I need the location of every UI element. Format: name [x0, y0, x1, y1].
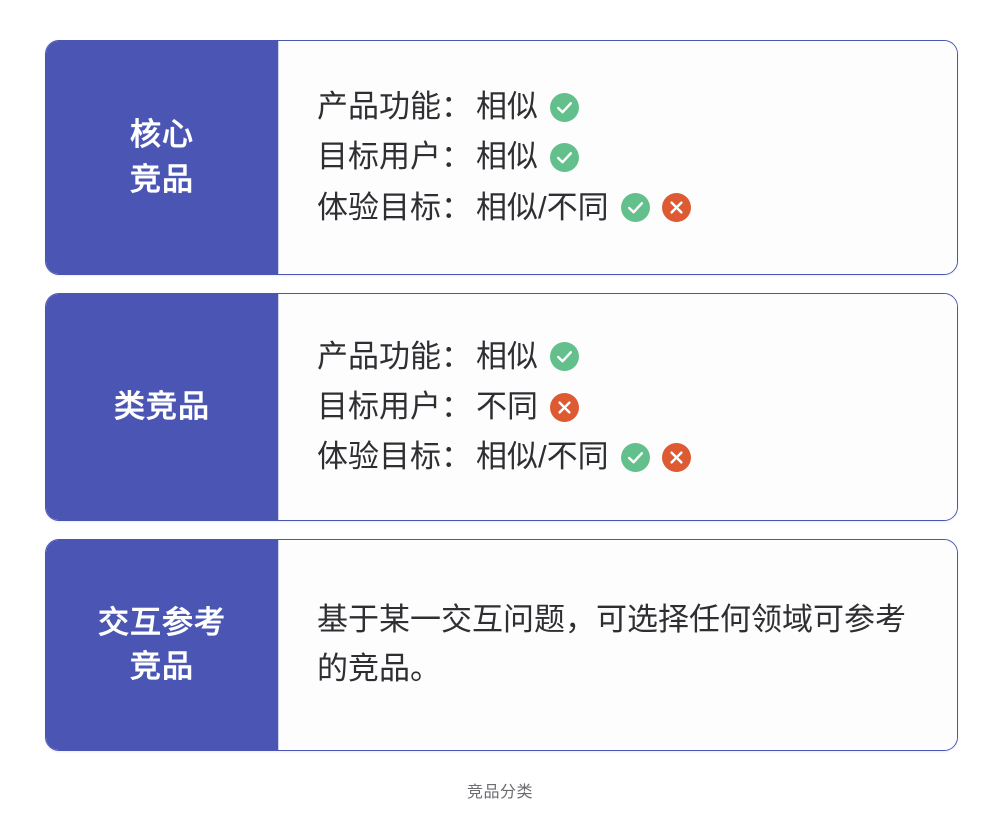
check-icon [550, 93, 579, 122]
check-icon [621, 193, 650, 222]
card: 交互参考竞品基于某一交互问题，可选择任何领域可参考的竞品。 [45, 539, 958, 751]
spec-key: 目标用户： [317, 382, 472, 432]
spec-value: 相似/不同 [476, 432, 609, 482]
cross-icon [662, 193, 691, 222]
card: 类竞品产品功能：相似目标用户：不同体验目标：相似/不同 [45, 293, 958, 521]
spec-key: 产品功能： [317, 332, 472, 382]
spec-value: 相似 [476, 132, 538, 182]
card-list: 核心竞品产品功能：相似目标用户：相似体验目标：相似/不同类竞品产品功能：相似目标… [45, 40, 958, 751]
spec-key: 体验目标： [317, 183, 472, 233]
spec-row: 产品功能：相似 [317, 332, 957, 382]
spec-row: 产品功能：相似 [317, 82, 957, 132]
card-paragraph: 基于某一交互问题，可选择任何领域可参考的竞品。 [317, 596, 957, 694]
card-label-line: 类竞品 [114, 385, 210, 429]
card-label-line: 竞品 [130, 158, 194, 202]
check-icon [550, 342, 579, 371]
card: 核心竞品产品功能：相似目标用户：相似体验目标：相似/不同 [45, 40, 958, 275]
spec-key: 产品功能： [317, 82, 472, 132]
competitor-classification-figure: 核心竞品产品功能：相似目标用户：相似体验目标：相似/不同类竞品产品功能：相似目标… [0, 0, 1000, 825]
spec-row: 体验目标：相似/不同 [317, 183, 957, 233]
card-body: 产品功能：相似目标用户：不同体验目标：相似/不同 [279, 294, 957, 520]
spec-value: 相似/不同 [476, 183, 609, 233]
card-label-line: 交互参考 [98, 601, 226, 645]
spec-row: 目标用户：不同 [317, 382, 957, 432]
spec-key: 目标用户： [317, 132, 472, 182]
card-label: 交互参考竞品 [46, 540, 279, 750]
spec-row: 体验目标：相似/不同 [317, 432, 957, 482]
cross-icon [662, 443, 691, 472]
card-body: 产品功能：相似目标用户：相似体验目标：相似/不同 [279, 41, 957, 274]
card-label-line: 核心 [130, 113, 194, 157]
check-icon [550, 143, 579, 172]
spec-value: 不同 [476, 382, 538, 432]
spec-key: 体验目标： [317, 432, 472, 482]
card-label: 类竞品 [46, 294, 279, 520]
card-label: 核心竞品 [46, 41, 279, 274]
figure-caption: 竞品分类 [0, 778, 1000, 802]
cross-icon [550, 393, 579, 422]
check-icon [621, 443, 650, 472]
spec-value: 相似 [476, 332, 538, 382]
card-label-line: 竞品 [130, 645, 194, 689]
card-body: 基于某一交互问题，可选择任何领域可参考的竞品。 [279, 540, 957, 750]
spec-value: 相似 [476, 82, 538, 132]
spec-row: 目标用户：相似 [317, 132, 957, 182]
